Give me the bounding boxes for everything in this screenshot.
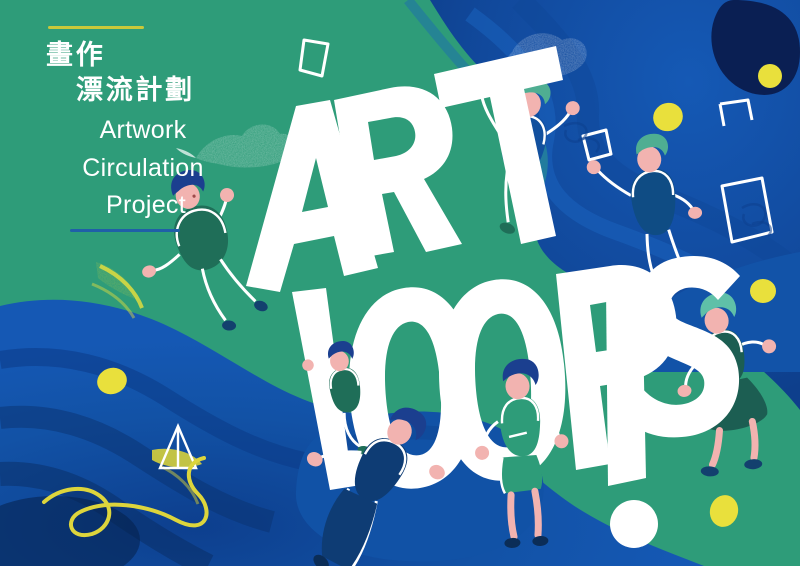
title-en-line-2: Circulation — [28, 153, 258, 184]
title-en-line-1: Artwork — [28, 115, 258, 146]
rule-bottom — [70, 229, 180, 232]
figure-bottom-navy-suit — [263, 375, 466, 566]
poster-canvas: 畫作 漂流計劃 Artwork Circulation Project — [0, 0, 800, 566]
title-cjk-line-2: 漂流計劃 — [76, 73, 258, 108]
figure-center-small — [299, 339, 374, 465]
title-cjk-line-1: 畫作 — [46, 38, 258, 73]
title-block: 畫作 漂流計劃 Artwork Circulation Project — [28, 26, 258, 232]
figure-bottom-center-white — [469, 356, 576, 550]
title-en-line-3: Project — [34, 190, 258, 221]
rule-top — [48, 26, 144, 29]
